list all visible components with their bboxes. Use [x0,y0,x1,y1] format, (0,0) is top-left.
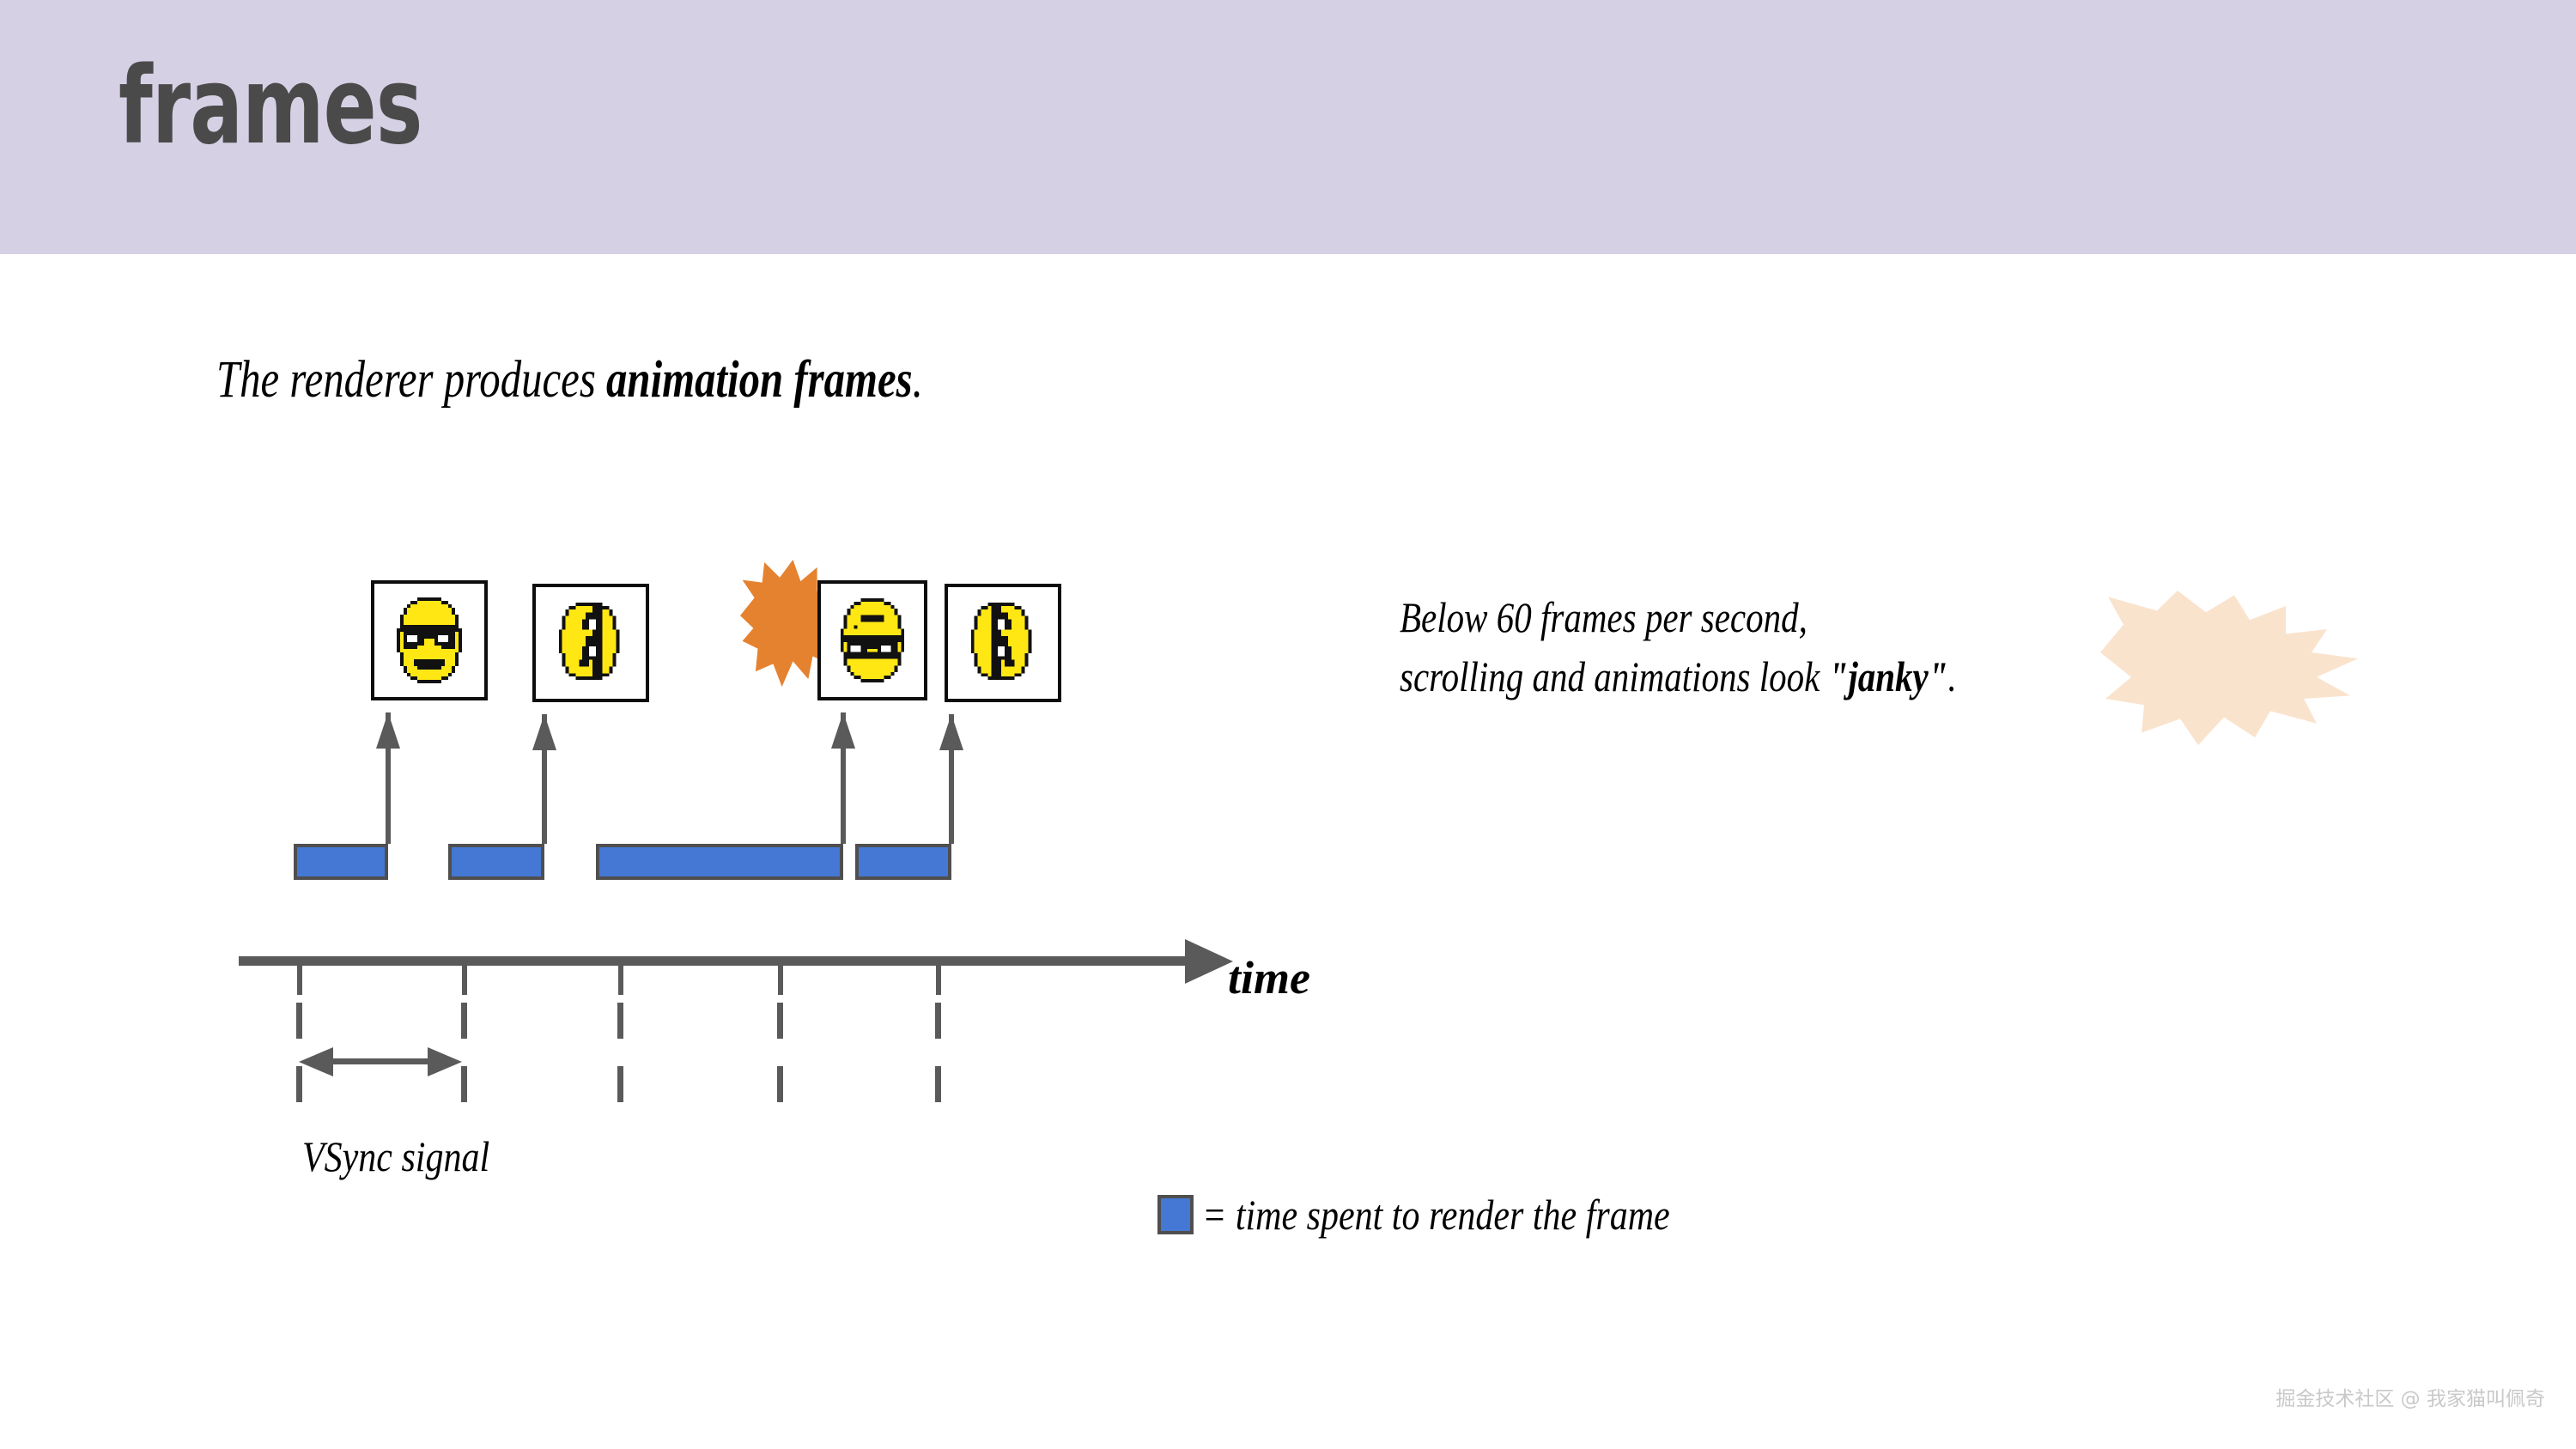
jank-callout-keyword: "janky" [1829,652,1948,700]
jank-callout-line2-prefix: scrolling and animations look [1400,652,1829,700]
render-bar-2 [448,844,544,880]
janky-starburst-shape [2100,591,2358,745]
cool-sunglasses-smiley-icon [386,594,472,687]
surprised-glasses-smiley-icon [830,594,914,687]
time-axis-label: time [1228,951,1310,1004]
vsync-interval-double-arrow-icon [299,1044,462,1078]
vsync-dashed-line-3 [617,1003,623,1123]
axis-tick-3 [618,966,623,995]
lead-sentence: The renderer produces animation frames. [216,350,923,410]
time-axis-line [239,956,1188,966]
render-bar-3 [596,844,843,880]
axis-tick-5 [936,966,941,995]
time-axis-arrowhead-icon [1185,939,1233,984]
animation-frame-thumbnail-3 [817,580,927,700]
page-title: frames [118,53,422,160]
legend-blue-square-icon [1157,1195,1194,1234]
arrow-to-frame-2-icon [532,714,556,844]
lead-sentence-suffix: . [913,351,923,409]
axis-tick-2 [462,966,467,995]
legend-label: = time spent to render the frame [1202,1190,1670,1240]
vsync-signal-label: VSync signal [302,1131,489,1181]
axis-tick-1 [297,966,302,995]
arrow-to-frame-1-icon [376,712,400,844]
axis-tick-4 [778,966,783,995]
lead-sentence-emphasis: animation frames [606,351,913,409]
render-bar-4 [855,844,951,880]
watermark: 掘金技术社区 @ 我家猫叫佩奇 [2275,1382,2545,1411]
vsync-dashed-line-5 [935,1003,941,1123]
legend: = time spent to render the frame [1157,1190,1759,1240]
lead-sentence-prefix: The renderer produces [216,351,606,409]
rotating-smiley-right-icon [549,598,633,688]
slide-canvas: frames The renderer produces animation f… [0,0,2576,1449]
vsync-dashed-line-2 [461,1003,467,1123]
animation-frame-thumbnail-1 [371,580,488,700]
arrow-to-frame-4-icon [939,714,963,844]
arrow-to-frame-3-icon [831,712,855,844]
animation-frame-thumbnail-4 [945,584,1061,702]
rotating-smiley-left-icon [961,598,1045,688]
animation-frame-thumbnail-2 [532,584,649,702]
vsync-dashed-line-4 [777,1003,783,1123]
jank-callout-line2-suffix: . [1948,652,1957,700]
render-bar-1 [294,844,388,880]
